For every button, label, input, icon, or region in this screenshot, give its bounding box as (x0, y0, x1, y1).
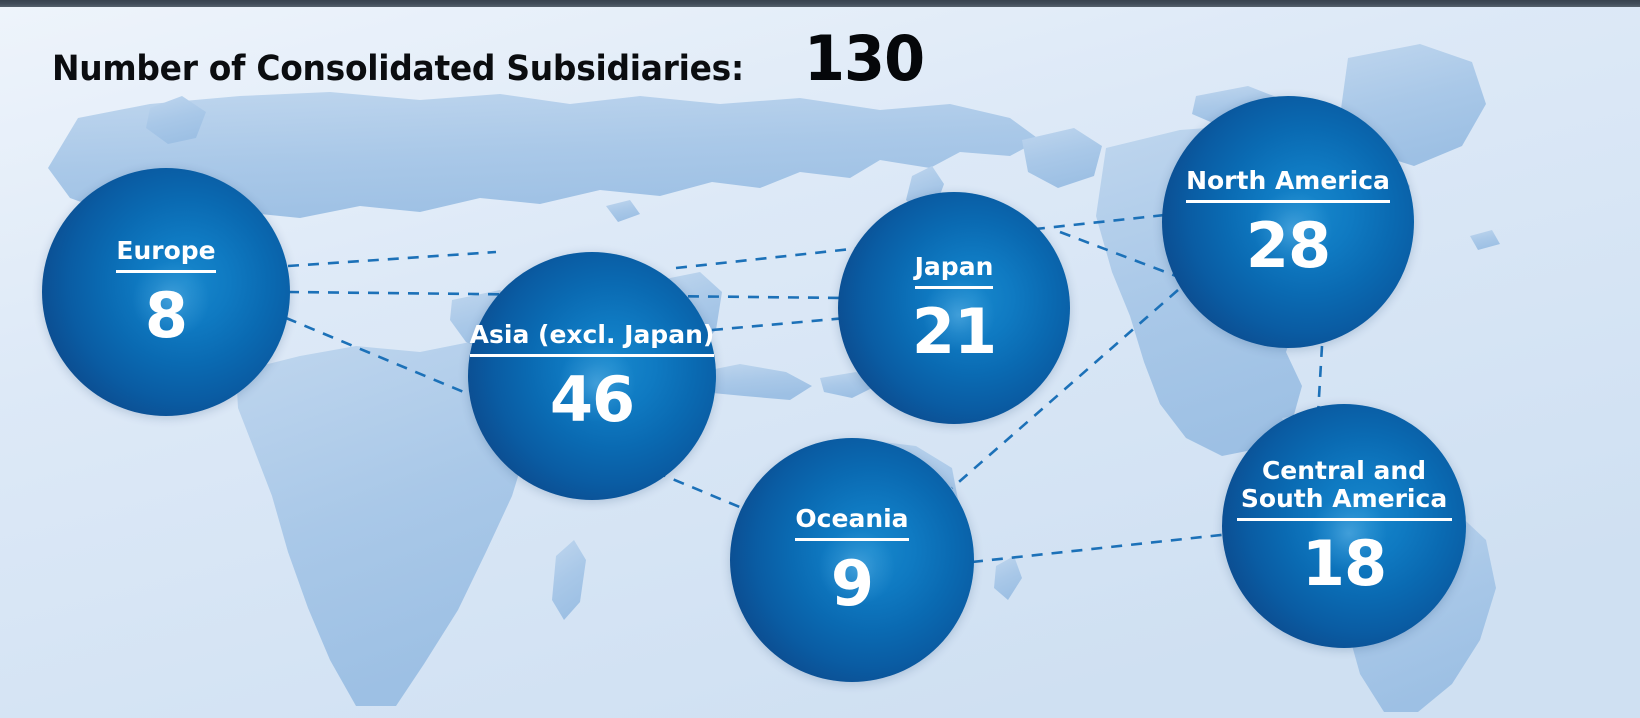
region-label-europe: Europe (116, 237, 215, 273)
link-japan-north (1060, 232, 1176, 276)
region-bubble-asia[interactable]: Asia (excl. Japan) 46 (468, 252, 716, 500)
page-title: Number of Consolidated Subsidiaries: 130 (52, 28, 930, 90)
region-bubble-japan[interactable]: Japan 21 (838, 192, 1070, 424)
region-bubble-central-south-america[interactable]: Central and South America 18 (1222, 404, 1466, 648)
region-label-central-south-america: Central and South America (1237, 457, 1452, 521)
region-value-oceania: 9 (831, 553, 873, 615)
title-total-value: 130 (804, 28, 924, 90)
region-value-central-south-america: 18 (1302, 533, 1386, 595)
region-bubble-europe[interactable]: Europe 8 (42, 168, 290, 416)
top-border-bar (0, 0, 1640, 7)
region-value-europe: 8 (145, 285, 187, 347)
region-label-oceania: Oceania (795, 505, 908, 541)
title-text: Number of Consolidated Subsidiaries: (52, 49, 744, 89)
region-value-asia: 46 (550, 369, 634, 431)
link-oceania-central (972, 534, 1230, 562)
link-europe-asia (288, 252, 496, 266)
region-label-asia: Asia (excl. Japan) (470, 321, 715, 357)
link-asia-japan (712, 318, 846, 330)
region-value-north-america: 28 (1246, 215, 1330, 277)
region-bubble-north-america[interactable]: North America 28 (1162, 96, 1414, 348)
infographic-canvas: Number of Consolidated Subsidiaries: 130… (0, 0, 1640, 718)
region-label-japan: Japan (915, 253, 994, 289)
region-label-north-america: North America (1186, 167, 1390, 203)
region-bubble-oceania[interactable]: Oceania 9 (730, 438, 974, 682)
region-value-japan: 21 (912, 301, 996, 363)
